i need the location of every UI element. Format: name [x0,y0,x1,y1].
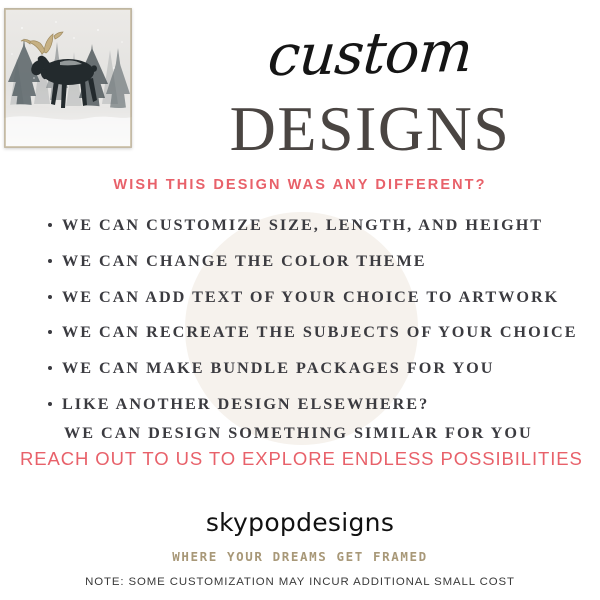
page-title-main: DESIGNS [150,96,590,161]
list-item-continuation: WE CAN DESIGN SOMETHING SIMILAR FOR YOU [40,423,580,443]
customization-feature-list: WE CAN CUSTOMIZE SIZE, LENGTH, AND HEIGH… [40,215,580,458]
call-to-action-text: REACH OUT TO US TO EXPLORE ENDLESS POSSI… [20,448,580,470]
page-title-script: custom [147,21,593,87]
list-item: WE CAN MAKE BUNDLE PACKAGES FOR YOU [40,358,580,378]
footer-note: NOTE: SOME CUSTOMIZATION MAY INCUR ADDIT… [0,576,600,588]
moose-artwork-icon [4,8,132,148]
page-subtitle: WISH THIS DESIGN WAS ANY DIFFERENT? [60,177,540,193]
moose-winter-forest-artwork-thumbnail[interactable] [4,8,132,148]
list-item: WE CAN ADD TEXT OF YOUR CHOICE TO ARTWOR… [40,287,580,307]
list-item: WE CAN RECREATE THE SUBJECTS OF YOUR CHO… [40,322,580,342]
list-item: LIKE ANOTHER DESIGN ELSEWHERE? [40,394,580,414]
list-item: WE CAN CHANGE THE COLOR THEME [40,251,580,271]
thumbnail-image-frame [4,8,132,148]
list-item: WE CAN CUSTOMIZE SIZE, LENGTH, AND HEIGH… [40,215,580,235]
custom-designs-infographic: custom DESIGNS WISH THIS DESIGN WAS ANY … [0,0,600,600]
brand-tagline: WHERE YOUR DREAMS GET FRAMED [0,549,600,564]
brand-name: skypopdesigns [0,508,600,537]
